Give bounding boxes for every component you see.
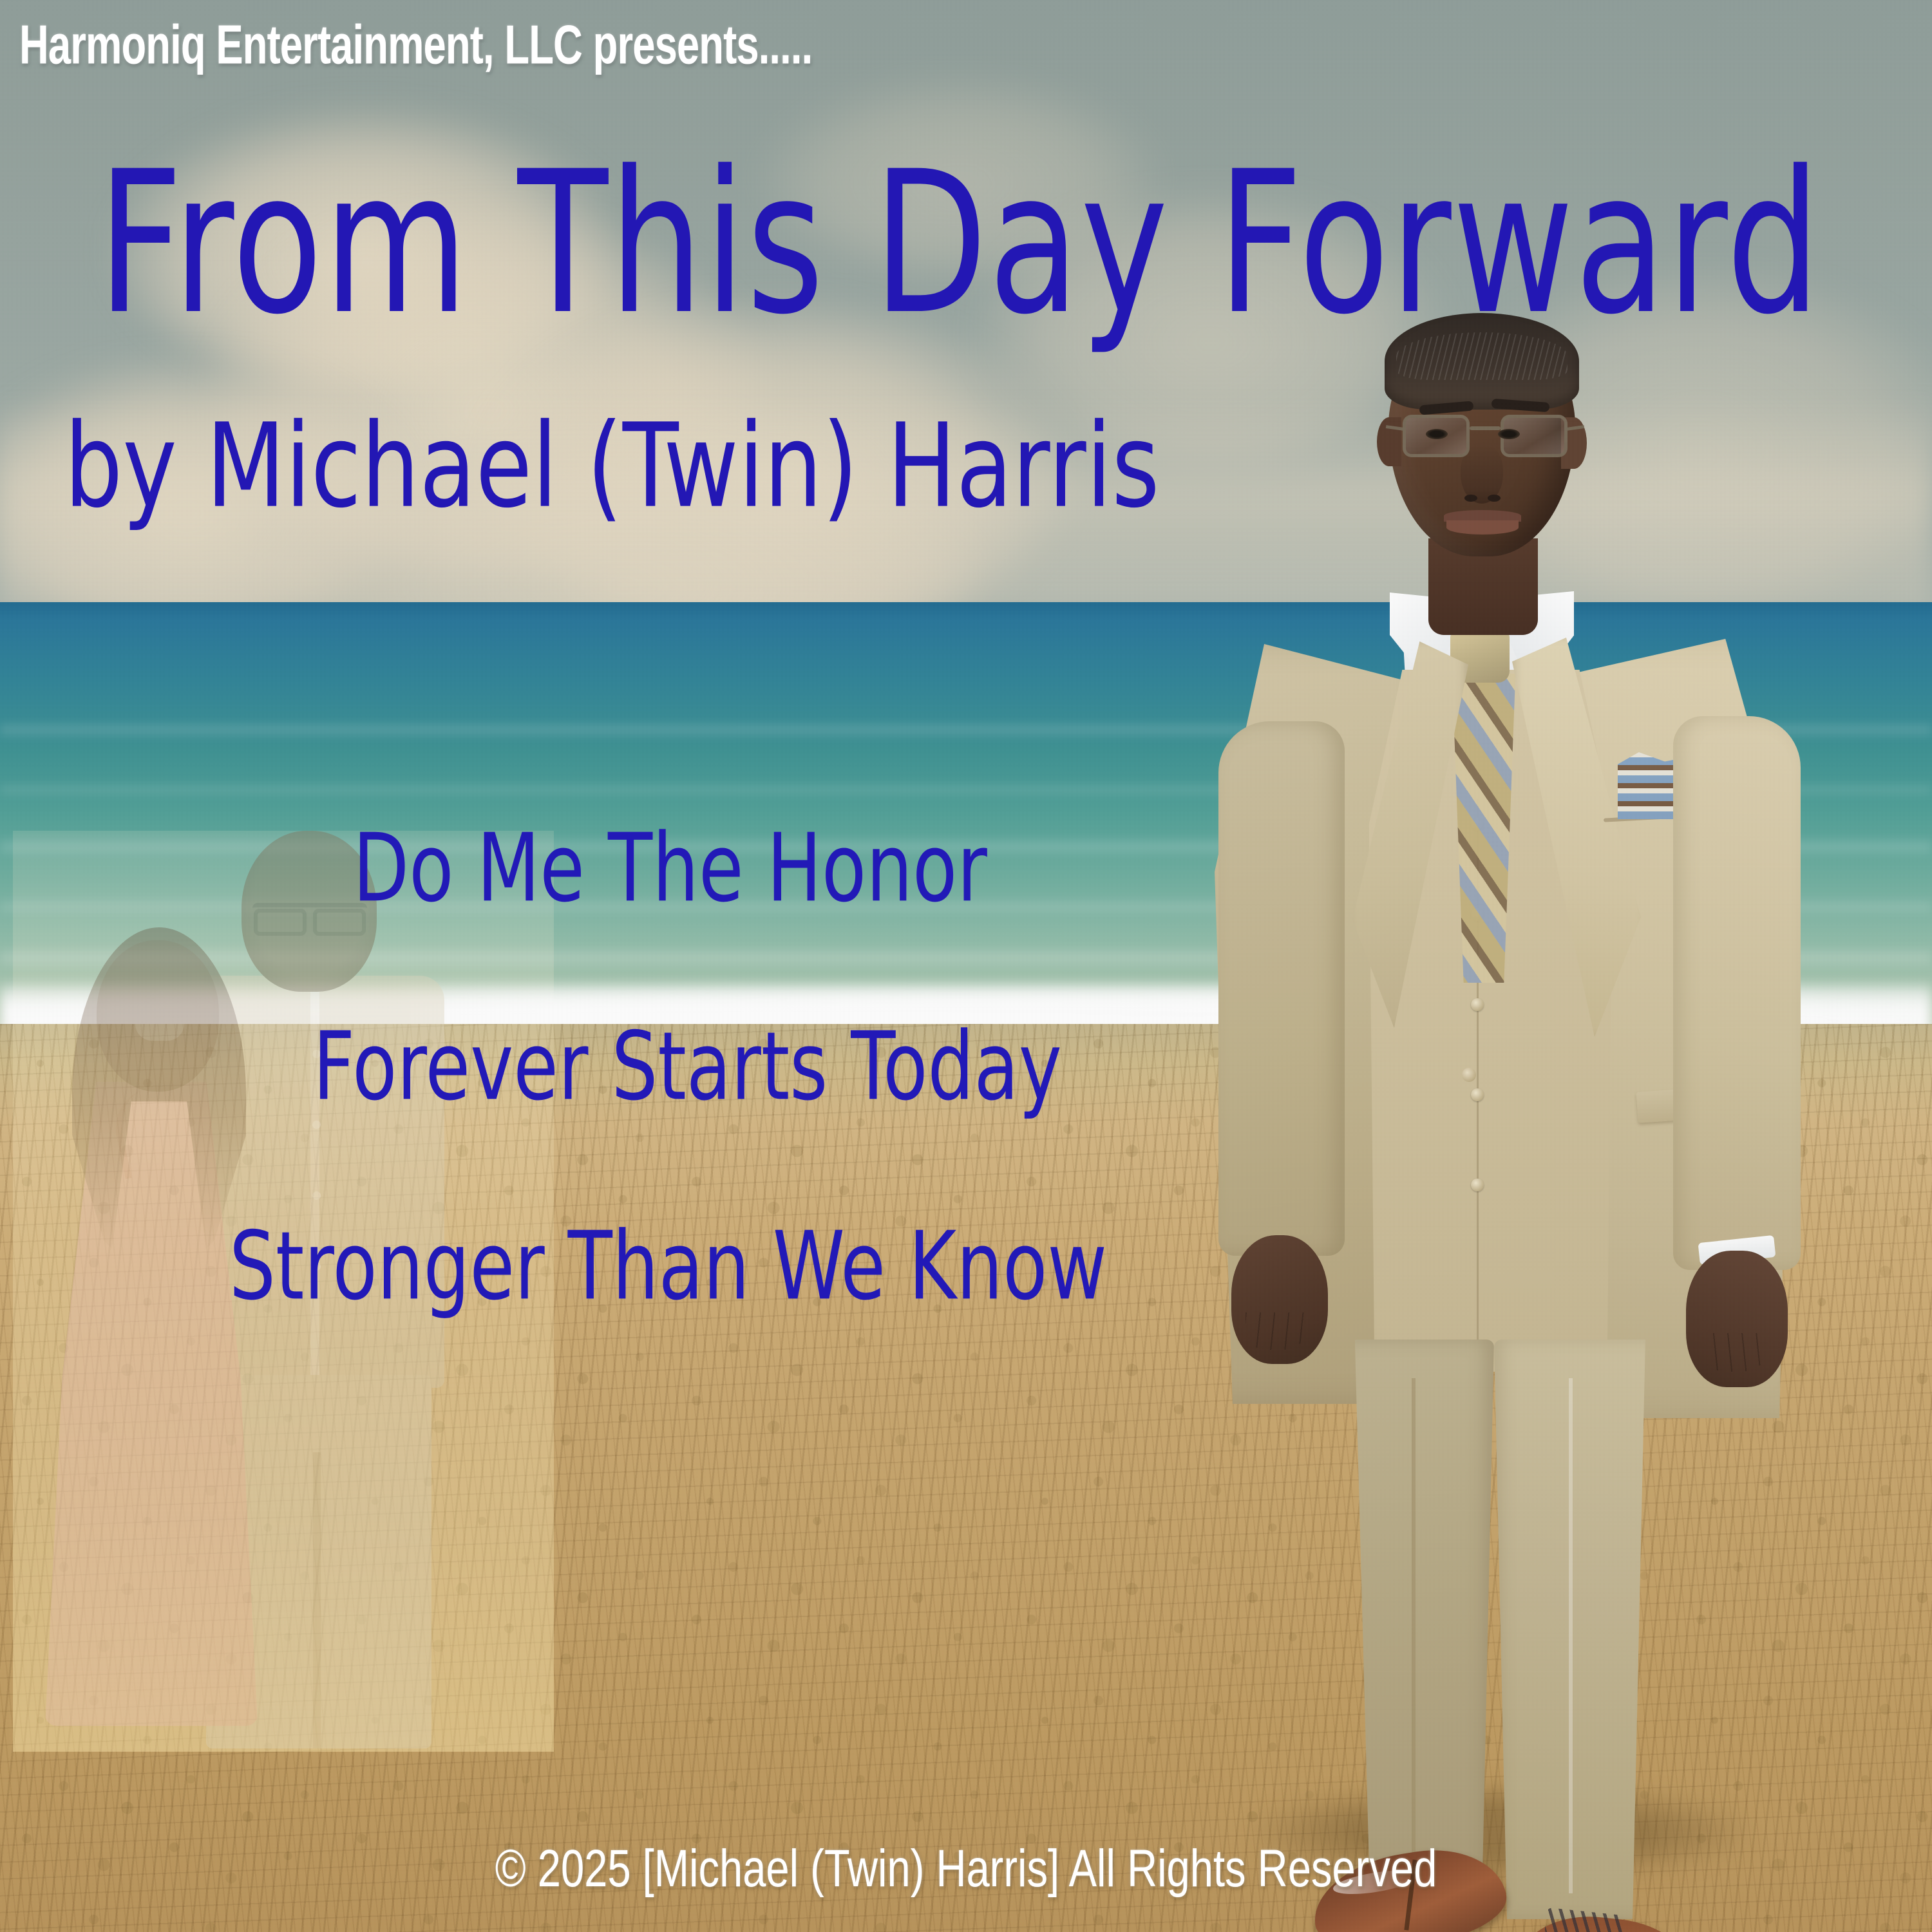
ghost-man-button — [312, 1121, 321, 1129]
vest-button — [1471, 1179, 1484, 1191]
ear-left — [1377, 417, 1401, 466]
trouser-crease-left — [1412, 1378, 1416, 1868]
album-title: From This Day Forward — [77, 129, 1842, 357]
eyeglass-bridge — [1470, 426, 1501, 430]
ghost-man-glasses-icon — [252, 903, 367, 925]
track-listing-item: Forever Starts Today — [313, 1011, 1062, 1121]
copyright-notice: © 2025 [Michael (Twin) Harris] All Right… — [68, 1839, 1864, 1899]
trouser-crease-right — [1569, 1378, 1573, 1893]
track-listing-item: Do Me The Honor — [353, 813, 987, 923]
nostril-right — [1488, 495, 1501, 502]
album-cover: Harmoniq Entertainment, LLC presents....… — [0, 0, 1932, 1932]
lower-lip — [1446, 520, 1519, 535]
track-listing-item: Stronger Than We Know — [229, 1211, 1107, 1321]
trouser-leg-left — [1346, 1340, 1494, 1887]
presenter-line: Harmoniq Entertainment, LLC presents....… — [19, 14, 812, 77]
eye-left — [1426, 429, 1448, 439]
vest-button — [1471, 1088, 1484, 1101]
jacket-sleeve-left — [1218, 721, 1345, 1256]
trouser-leg-right — [1494, 1340, 1655, 1919]
jacket-sleeve-right — [1673, 716, 1801, 1270]
hand-left — [1231, 1235, 1328, 1364]
eye-right — [1498, 429, 1520, 439]
artist-byline: by Michael (Twin) Harris — [64, 399, 1160, 534]
ghost-man-button — [312, 1191, 321, 1200]
vest-button — [1471, 998, 1484, 1011]
eyeglasses-icon — [1403, 412, 1567, 462]
nostril-left — [1464, 495, 1477, 502]
main-subject-figure — [1159, 309, 1842, 1906]
jacket-button — [1462, 1068, 1476, 1082]
hand-right — [1686, 1251, 1788, 1387]
